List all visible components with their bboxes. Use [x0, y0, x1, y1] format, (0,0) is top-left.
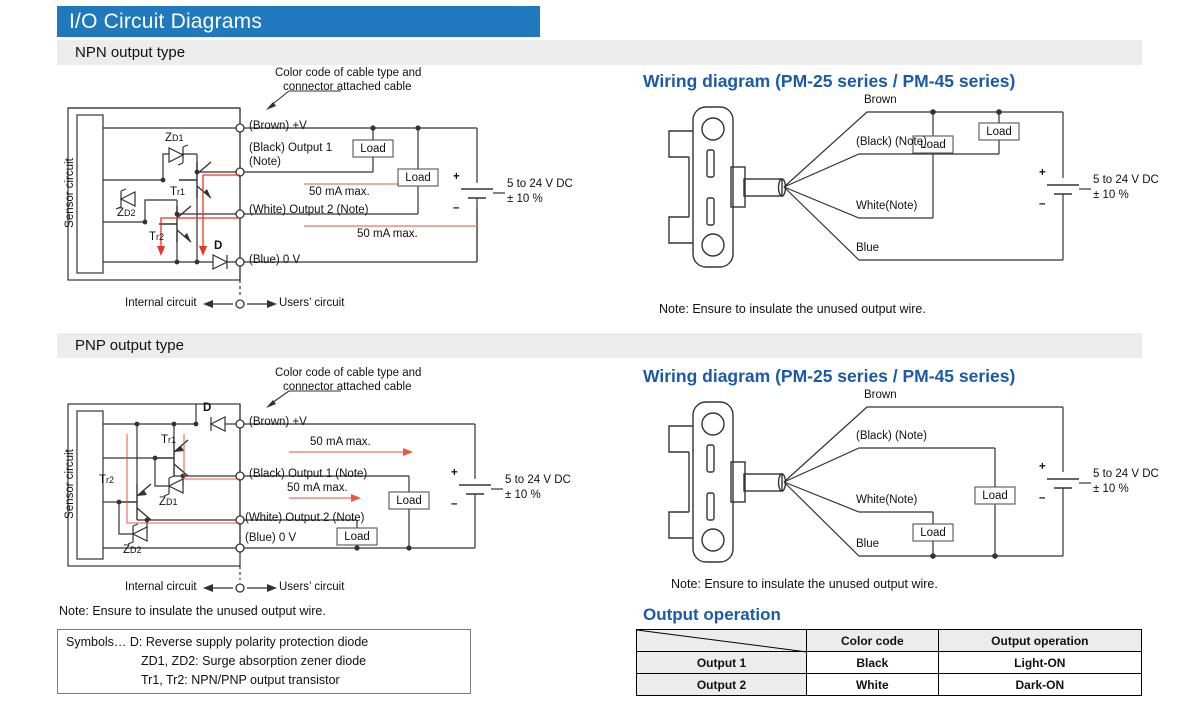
symbols-line-1: Symbols… D: Reverse supply polarity prot… [66, 635, 368, 649]
npn-black-label-line1: (Black) Output 1 [249, 142, 332, 154]
table-row-label-output-1: Output 1 [637, 652, 807, 674]
output-operation-heading: Output operation [643, 605, 781, 625]
supply-plus-sign: + [453, 171, 460, 183]
table-header-row: Color code Output operation [637, 630, 1142, 652]
table-cell-color-output-1: Black [807, 652, 939, 674]
supply-voltage-line1: 5 to 24 V DC [507, 178, 573, 190]
npn-current-limit-2: 50 mA max. [357, 228, 418, 240]
d-diode-label: D [203, 402, 211, 414]
d-diode-label: D [214, 240, 222, 252]
table-row-label-output-2: Output 2 [637, 674, 807, 696]
npn-current-limit-1: 50 mA max. [309, 186, 370, 198]
supply-minus-sign: – [1039, 492, 1045, 504]
wiring-blue-label: Blue [856, 242, 879, 254]
callout-line-1: Color code of cable type and [275, 67, 421, 79]
supply-plus-sign: + [451, 467, 458, 479]
npn-blue-label: (Blue) 0 V [249, 254, 300, 266]
wiring-white-label: White(Note) [856, 494, 917, 506]
section-header-pnp: PNP output type [57, 333, 1142, 358]
supply-voltage-line1: 5 to 24 V DC [505, 474, 571, 486]
symbols-legend-box: Symbols… D: Reverse supply polarity prot… [57, 629, 471, 694]
load-box-label: Load [979, 126, 1019, 138]
load-box-label: Load [398, 172, 438, 184]
npn-wiring-note: Note: Ensure to insulate the unused outp… [659, 302, 926, 316]
tr1-label: Tr1 [170, 186, 185, 198]
tr1-label: Tr1 [161, 434, 176, 446]
npn-brown-label: (Brown) +V [249, 120, 307, 132]
table-cell-color-output-2: White [807, 674, 939, 696]
pnp-white-label: (White) Output 2 (Note) [245, 512, 365, 524]
zd1-label: ZD1 [165, 132, 184, 144]
supply-voltage-line2: ± 10 % [505, 489, 541, 501]
pnp-current-limit-1: 50 mA max. [310, 436, 371, 448]
pnp-wiring-note: Note: Ensure to insulate the unused outp… [671, 577, 938, 591]
symbols-line-2: ZD1, ZD2: Surge absorption zener diode [141, 654, 366, 668]
sensor-circuit-label: Sensor circuit [64, 449, 76, 519]
pnp-brown-label: (Brown) +V [249, 416, 307, 428]
load-box-label: Load [353, 143, 393, 155]
wiring-diagram-heading-pnp: Wiring diagram (PM-25 series / PM-45 ser… [643, 366, 1015, 387]
supply-minus-sign: – [1039, 198, 1045, 210]
internal-circuit-label: Internal circuit [125, 581, 197, 593]
wiring-blue-label: Blue [856, 538, 879, 550]
supply-plus-sign: + [1039, 461, 1046, 473]
load-box-label: Load [337, 531, 377, 543]
supply-voltage-line1: 5 to 24 V DC [1093, 174, 1159, 186]
wiring-white-label: White(Note) [856, 200, 917, 212]
npn-white-label: (White) Output 2 (Note) [249, 204, 369, 216]
tr2-label: Tr2 [149, 231, 164, 243]
pnp-blue-label: (Blue) 0 V [245, 532, 296, 544]
internal-circuit-label: Internal circuit [125, 297, 197, 309]
pnp-insulate-note: Note: Ensure to insulate the unused outp… [59, 604, 326, 618]
wiring-brown-label: Brown [864, 94, 897, 106]
npn-wiring-diagram: Brown (Black) (Note) White(Note) Blue Lo… [643, 95, 1143, 295]
users-circuit-label: Users’ circuit [279, 581, 344, 593]
load-box-label: Load [975, 490, 1015, 502]
supply-plus-sign: + [1039, 167, 1046, 179]
users-circuit-label: Users’ circuit [279, 297, 344, 309]
pnp-current-limit-2: 50 mA max. [287, 482, 348, 494]
callout-line-1: Color code of cable type and [275, 367, 421, 379]
callout-line-2: connector attached cable [283, 381, 412, 393]
table-cell-operation-output-2: Dark-ON [938, 674, 1141, 696]
wiring-black-label: (Black) (Note) [856, 430, 927, 442]
table-corner-cell [637, 630, 807, 652]
zd2-label: ZD2 [123, 544, 142, 556]
wiring-brown-label: Brown [864, 389, 897, 401]
npn-circuit-diagram: Color code of cable type and connector a… [57, 62, 597, 322]
pnp-circuit-diagram: Color code of cable type and connector a… [57, 362, 597, 602]
load-box-label: Load [389, 495, 429, 507]
table-row: Output 1 Black Light-ON [637, 652, 1142, 674]
tr2-label: Tr2 [99, 474, 114, 486]
supply-voltage-line2: ± 10 % [1093, 189, 1129, 201]
supply-minus-sign: – [453, 202, 459, 214]
table-row: Output 2 White Dark-ON [637, 674, 1142, 696]
page-title: I/O Circuit Diagrams [57, 6, 540, 37]
supply-voltage-line1: 5 to 24 V DC [1093, 468, 1159, 480]
output-operation-table: Color code Output operation Output 1 Bla… [636, 629, 1142, 696]
load-box-label: Load [913, 139, 953, 151]
callout-line-2: connector attached cable [283, 81, 412, 93]
supply-voltage-line2: ± 10 % [1093, 483, 1129, 495]
table-header-color-code: Color code [807, 630, 939, 652]
npn-black-label-line2: (Note) [249, 156, 281, 168]
symbols-line-3: Tr1, Tr2: NPN/PNP output transistor [141, 673, 340, 687]
table-header-output-operation: Output operation [938, 630, 1141, 652]
supply-voltage-line2: ± 10 % [507, 193, 543, 205]
wiring-diagram-heading-npn: Wiring diagram (PM-25 series / PM-45 ser… [643, 71, 1015, 92]
zd2-label: ZD2 [117, 207, 136, 219]
supply-minus-sign: – [451, 498, 457, 510]
load-box-label: Load [913, 527, 953, 539]
table-cell-operation-output-1: Light-ON [938, 652, 1141, 674]
pnp-wiring-diagram: Brown (Black) (Note) White(Note) Blue Lo… [643, 390, 1143, 580]
datasheet-page: I/O Circuit Diagrams NPN output type [0, 0, 1190, 711]
pnp-black-label: (Black) Output 1 (Note) [249, 468, 367, 480]
zd1-label: ZD1 [159, 496, 178, 508]
sensor-circuit-label: Sensor circuit [64, 158, 76, 228]
